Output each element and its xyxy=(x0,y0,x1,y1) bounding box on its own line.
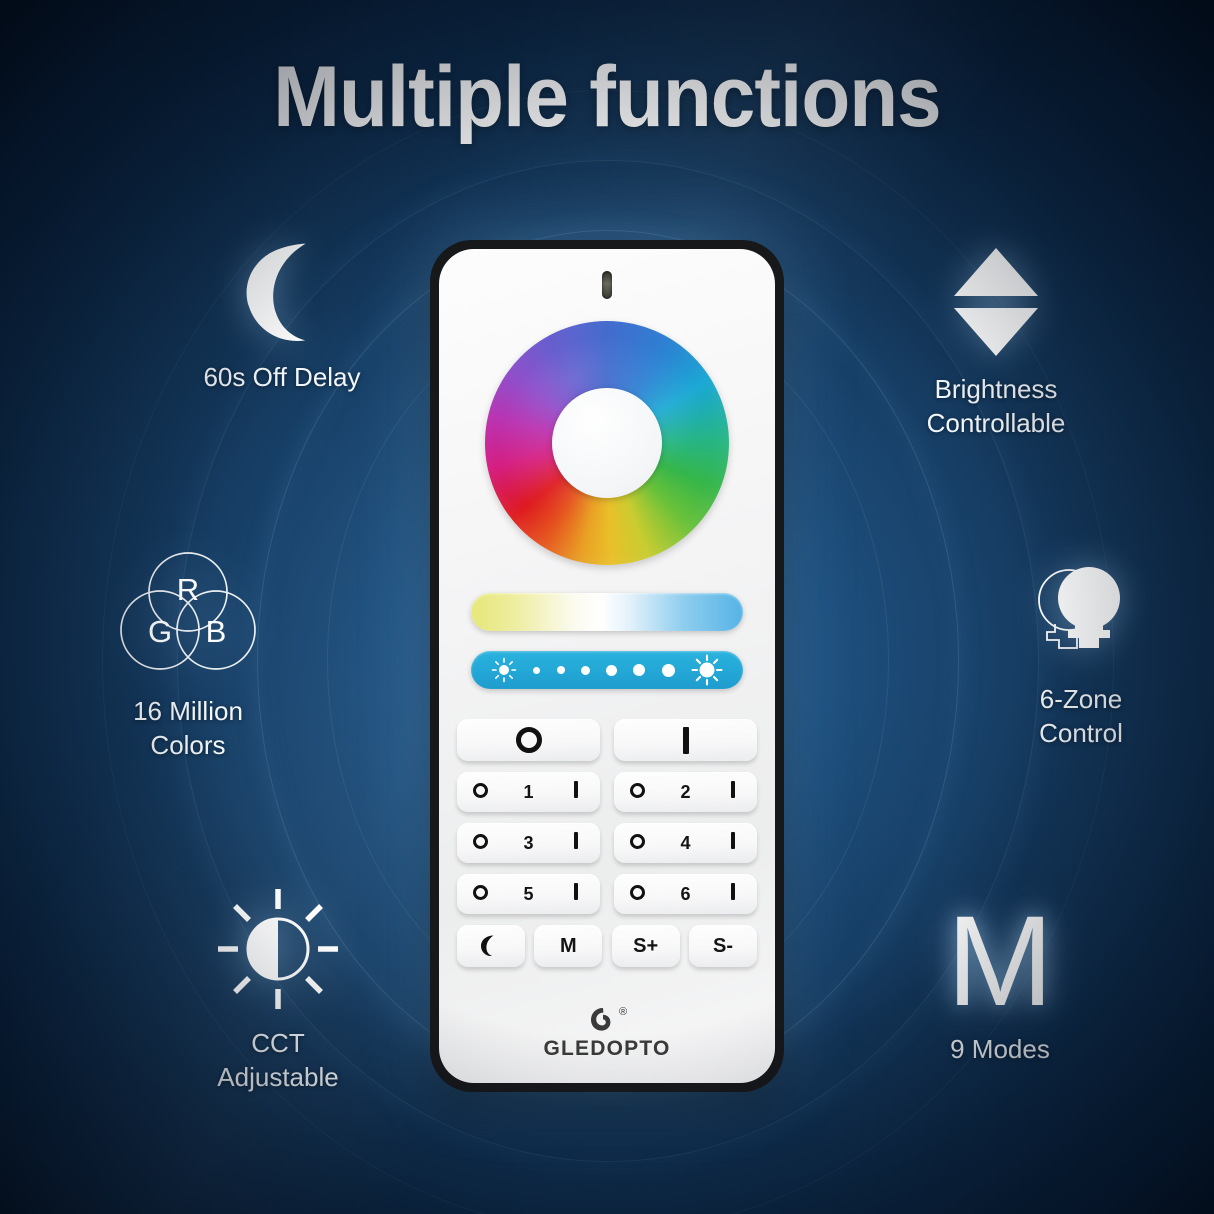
speed-down-button[interactable]: S- xyxy=(689,925,757,967)
remote-face: 1 2 xyxy=(439,249,775,1083)
brightness-slider[interactable] xyxy=(471,651,743,689)
color-wheel-center-button[interactable] xyxy=(552,388,662,498)
mode-button[interactable]: M xyxy=(534,925,602,967)
brightness-dot xyxy=(581,666,590,675)
feature-label: Brightness Controllable xyxy=(846,372,1146,440)
trademark-symbol: ® xyxy=(619,1006,627,1018)
zone-row-5-6: 5 6 xyxy=(457,874,757,914)
cct-slider[interactable] xyxy=(471,593,743,631)
speed-up-button[interactable]: S+ xyxy=(612,925,680,967)
letter-m-icon: M xyxy=(880,906,1120,1018)
feature-brightness: Brightness Controllable xyxy=(846,246,1146,440)
zone-off-glyph[interactable] xyxy=(473,834,488,849)
all-on-button[interactable] xyxy=(614,719,757,761)
rgb-venn-icon: R G B xyxy=(38,548,338,680)
brightness-dot xyxy=(557,666,565,674)
rgb-label-g: G xyxy=(148,614,172,649)
all-off-button[interactable] xyxy=(457,719,600,761)
brightness-dot xyxy=(533,667,540,674)
zone-button-4[interactable]: 4 xyxy=(614,823,757,863)
letter-m-glyph: M xyxy=(947,906,1054,1018)
brand-logo: ® GLEDOPTO xyxy=(439,1005,775,1061)
zone-off-glyph[interactable] xyxy=(473,885,488,900)
half-sun-icon xyxy=(128,886,428,1012)
zone-off-glyph[interactable] xyxy=(630,885,645,900)
zone-row-1-2: 1 2 xyxy=(457,772,757,812)
zone-off-glyph[interactable] xyxy=(630,783,645,798)
zone-number: 2 xyxy=(662,782,710,803)
moon-icon xyxy=(480,935,502,957)
zone-on-glyph[interactable] xyxy=(574,781,578,798)
zone-number: 3 xyxy=(505,833,553,854)
zone-button-2[interactable]: 2 xyxy=(614,772,757,812)
zone-button-5[interactable]: 5 xyxy=(457,874,600,914)
two-bulbs-icon xyxy=(966,556,1196,668)
power-on-glyph xyxy=(683,727,689,754)
remote-control-device: 1 2 xyxy=(430,240,784,1092)
zone-on-glyph[interactable] xyxy=(574,883,578,900)
zone-number: 4 xyxy=(662,833,710,854)
zone-button-3[interactable]: 3 xyxy=(457,823,600,863)
zone-off-glyph[interactable] xyxy=(630,834,645,849)
brand-name: GLEDOPTO xyxy=(439,1037,775,1061)
feature-zone-control: 6-Zone Control xyxy=(966,556,1196,750)
zone-on-glyph[interactable] xyxy=(574,832,578,849)
button-grid: 1 2 xyxy=(457,719,757,978)
feature-label: 60s Off Delay xyxy=(142,360,422,394)
feature-off-delay: 60s Off Delay xyxy=(142,238,422,394)
night-mode-button[interactable] xyxy=(457,925,525,967)
promo-image-canvas: Multiple functions 60s Off Delay R G B 1… xyxy=(0,0,1214,1214)
rgb-label-r: R xyxy=(177,572,199,607)
feature-label: 9 Modes xyxy=(880,1032,1120,1066)
zone-number: 1 xyxy=(505,782,553,803)
zone-button-6[interactable]: 6 xyxy=(614,874,757,914)
feature-label: CCT Adjustable xyxy=(128,1026,428,1094)
feature-label: 6-Zone Control xyxy=(966,682,1196,750)
rgb-color-wheel[interactable] xyxy=(485,321,729,565)
power-row xyxy=(457,719,757,761)
up-down-triangles-icon xyxy=(846,246,1146,358)
small-sun-icon xyxy=(491,657,517,683)
brightness-dot xyxy=(633,664,645,676)
brightness-dot xyxy=(662,664,675,677)
gledopto-logo-mark: ® xyxy=(579,1005,635,1035)
zone-number: 6 xyxy=(662,884,710,905)
zone-row-3-4: 3 4 xyxy=(457,823,757,863)
zone-button-1[interactable]: 1 xyxy=(457,772,600,812)
zone-on-glyph[interactable] xyxy=(731,883,735,900)
large-sun-icon xyxy=(691,654,723,686)
page-title: Multiple functions xyxy=(42,48,1171,147)
feature-modes: M 9 Modes xyxy=(880,906,1120,1066)
feature-rgb-colors: R G B 16 Million Colors xyxy=(38,548,338,762)
function-row: M S+ S- xyxy=(457,925,757,967)
zone-off-glyph[interactable] xyxy=(473,783,488,798)
power-off-glyph xyxy=(516,727,542,753)
feature-cct: CCT Adjustable xyxy=(128,886,428,1094)
brightness-dot xyxy=(606,665,617,676)
rgb-label-b: B xyxy=(206,614,227,649)
ir-led-indicator xyxy=(602,271,612,299)
crescent-moon-icon xyxy=(142,238,422,346)
zone-on-glyph[interactable] xyxy=(731,832,735,849)
feature-label: 16 Million Colors xyxy=(38,694,338,762)
zone-on-glyph[interactable] xyxy=(731,781,735,798)
zone-number: 5 xyxy=(505,884,553,905)
